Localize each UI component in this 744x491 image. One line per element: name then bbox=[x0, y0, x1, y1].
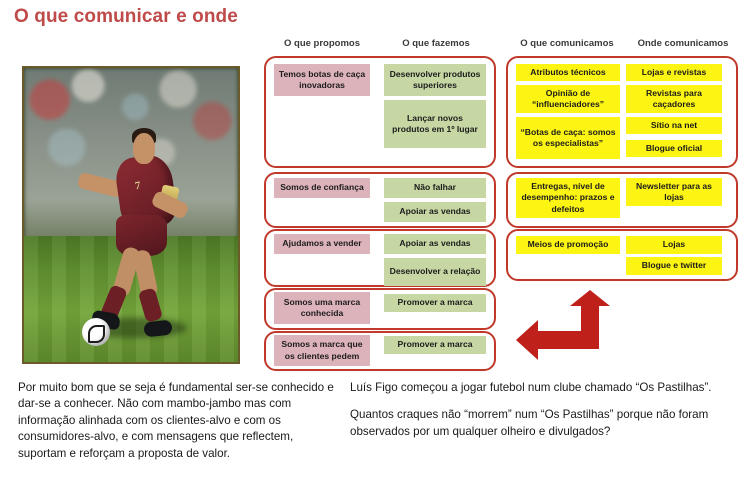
column-header-fazemos: O que fazemos bbox=[380, 38, 492, 49]
cell-fazemos-2-1[interactable]: Não falhar bbox=[384, 178, 486, 198]
cell-comunicamos-1-3[interactable]: “Botas de caça: somos os especialistas” bbox=[516, 117, 620, 159]
footer-left-text: Por muito bom que se seja é fundamental … bbox=[18, 380, 340, 462]
cell-fazemos-5-1[interactable]: Promover a marca bbox=[384, 336, 486, 354]
cell-fazemos-1-1[interactable]: Desenvolver produtos superiores bbox=[384, 64, 486, 96]
bent-double-arrow-left-up-icon bbox=[508, 288, 628, 366]
cell-fazemos-2-2[interactable]: Apoiar as vendas bbox=[384, 202, 486, 222]
slide-canvas: O que comunicar e onde 7 O que propomos … bbox=[0, 0, 744, 491]
cell-onde-1-1[interactable]: Lojas e revistas bbox=[626, 64, 722, 81]
cell-propomos-5-1[interactable]: Somos a marca que os clientes pedem bbox=[274, 335, 370, 366]
cell-propomos-1-1[interactable]: Temos botas de caça inovadoras bbox=[274, 64, 370, 96]
cell-comunicamos-1-2[interactable]: Opinião de “influenciadores” bbox=[516, 85, 620, 113]
column-header-comunicamos: O que comunicamos bbox=[508, 38, 626, 49]
cell-onde-3-1[interactable]: Lojas bbox=[626, 236, 722, 254]
football-ball bbox=[82, 318, 110, 346]
cell-propomos-2-1[interactable]: Somos de confiança bbox=[274, 178, 370, 198]
cell-onde-3-2[interactable]: Blogue e twitter bbox=[626, 257, 722, 275]
footer-right-paragraph-2: Quantos craques não “morrem” num “Os Pas… bbox=[350, 407, 735, 440]
cell-fazemos-3-2[interactable]: Desenvolver a relação bbox=[384, 258, 486, 286]
page-title: O que comunicar e onde bbox=[14, 6, 238, 28]
footer-right-text: Luís Figo começou a jogar futebol num cl… bbox=[350, 380, 735, 440]
footer-left-paragraph: Por muito bom que se seja é fundamental … bbox=[18, 380, 340, 462]
cell-comunicamos-2-1[interactable]: Entregas, nível de desempenho: prazos e … bbox=[516, 178, 620, 218]
column-header-propomos: O que propomos bbox=[266, 38, 378, 49]
cell-fazemos-4-1[interactable]: Promover a marca bbox=[384, 294, 486, 312]
cell-comunicamos-1-1[interactable]: Atributos técnicos bbox=[516, 64, 620, 81]
cell-fazemos-3-1[interactable]: Apoiar as vendas bbox=[384, 234, 486, 254]
cell-comunicamos-3-1[interactable]: Meios de promoção bbox=[516, 236, 620, 254]
cell-fazemos-1-2[interactable]: Lançar novos produtos em 1º lugar bbox=[384, 100, 486, 148]
footer-right-paragraph-1: Luís Figo começou a jogar futebol num cl… bbox=[350, 380, 735, 396]
player-boot-back bbox=[143, 319, 172, 337]
cell-onde-1-3[interactable]: Sítio na net bbox=[626, 117, 722, 134]
cell-propomos-4-1[interactable]: Somos uma marca conhecida bbox=[274, 292, 370, 324]
jersey-number: 7 bbox=[134, 179, 141, 192]
cell-onde-1-2[interactable]: Revistas para caçadores bbox=[626, 85, 722, 113]
cell-onde-2-1[interactable]: Newsletter para as lojas bbox=[626, 178, 722, 206]
player-head bbox=[133, 133, 154, 164]
column-header-onde: Onde comunicamos bbox=[624, 38, 742, 49]
cell-propomos-3-1[interactable]: Ajudamos a vender bbox=[274, 234, 370, 254]
cell-onde-1-4[interactable]: Blogue oficial bbox=[626, 140, 722, 157]
luis-figo-photo: 7 bbox=[22, 66, 240, 364]
